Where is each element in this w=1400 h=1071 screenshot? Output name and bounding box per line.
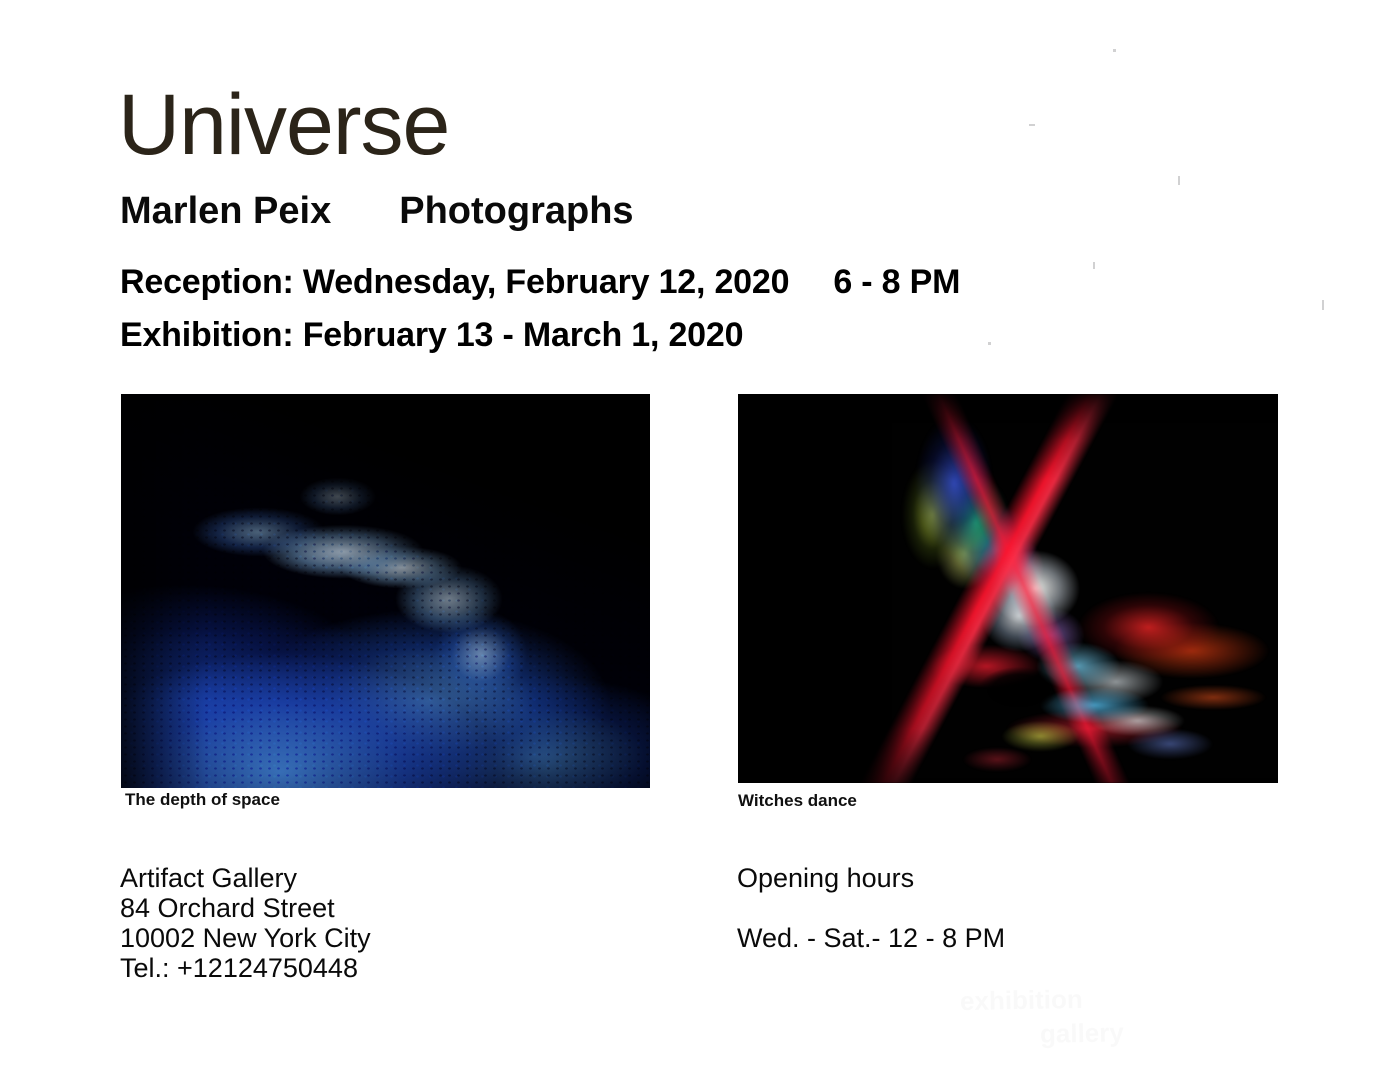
photo-right-vignette-layer xyxy=(738,394,1278,783)
venue-street: 84 Orchard Street xyxy=(120,893,371,923)
reception-label: Reception: Wednesday, February 12, 2020 xyxy=(120,263,789,301)
venue-phone: Tel.: +12124750448 xyxy=(120,953,371,983)
scan-speck xyxy=(1178,176,1180,185)
venue-info: Artifact Gallery 84 Orchard Street 10002… xyxy=(120,863,371,983)
page-title: Universe xyxy=(118,82,449,168)
venue-city: 10002 New York City xyxy=(120,923,371,953)
scan-speck xyxy=(1093,262,1095,269)
reception-line: Reception: Wednesday, February 12, 20206… xyxy=(120,265,960,299)
reception-time: 6 - 8 PM xyxy=(833,263,960,301)
opening-hours-info: Opening hours Wed. - Sat.- 12 - 8 PM xyxy=(737,863,1005,953)
photo-the-depth-of-space xyxy=(121,394,650,788)
scan-artifact-a: exhibition xyxy=(960,984,1083,1017)
scan-speck xyxy=(1322,300,1324,310)
scan-speck xyxy=(1113,49,1116,52)
opening-hours-schedule: Wed. - Sat.- 12 - 8 PM xyxy=(737,923,1005,953)
opening-hours-heading: Opening hours xyxy=(737,863,1005,893)
exhibition-line: Exhibition: February 13 - March 1, 2020 xyxy=(120,318,743,352)
scan-speck xyxy=(988,342,991,345)
venue-name: Artifact Gallery xyxy=(120,863,371,893)
caption-photo-right: Witches dance xyxy=(738,791,857,811)
artist-name: Marlen Peix xyxy=(120,190,331,232)
scan-speck xyxy=(1029,124,1035,126)
scan-artifact-b: gallery xyxy=(1040,1017,1124,1049)
opening-hours-spacer xyxy=(737,893,1005,923)
medium-label: Photographs xyxy=(399,190,633,232)
byline: Marlen PeixPhotographs xyxy=(120,192,634,230)
exhibition-poster: Universe Marlen PeixPhotographs Receptio… xyxy=(0,0,1400,1071)
caption-photo-left: The depth of space xyxy=(125,790,280,810)
photo-witches-dance xyxy=(738,394,1278,783)
photo-left-vignette-layer xyxy=(121,394,650,788)
